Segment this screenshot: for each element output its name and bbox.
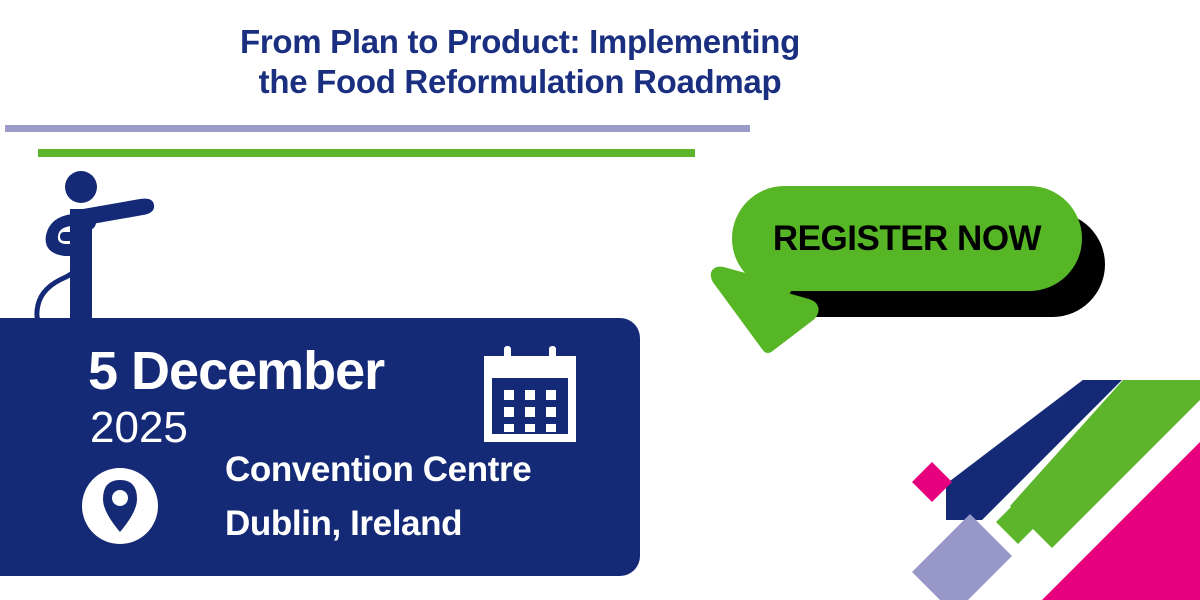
- event-banner: From Plan to Product: Implementing the F…: [0, 0, 1200, 600]
- event-date: 5 December: [88, 340, 384, 402]
- page-title: From Plan to Product: Implementing the F…: [0, 22, 1040, 103]
- location-pin-icon: [80, 466, 160, 546]
- register-now-button[interactable]: REGISTER NOW: [732, 186, 1082, 291]
- divider-green: [38, 149, 695, 157]
- register-cta[interactable]: REGISTER NOW: [660, 180, 1110, 355]
- event-info-panel: 5 December 2025: [0, 318, 640, 576]
- speaker-with-microphone-icon: [20, 165, 170, 330]
- event-venue: Convention Centre Dublin, Ireland: [225, 443, 531, 552]
- event-year: 2025: [90, 403, 188, 453]
- calendar-icon: [480, 346, 580, 446]
- diagonal-shapes-decoration: [900, 380, 1200, 600]
- register-now-label: REGISTER NOW: [773, 219, 1041, 259]
- divider-purple: [5, 125, 750, 132]
